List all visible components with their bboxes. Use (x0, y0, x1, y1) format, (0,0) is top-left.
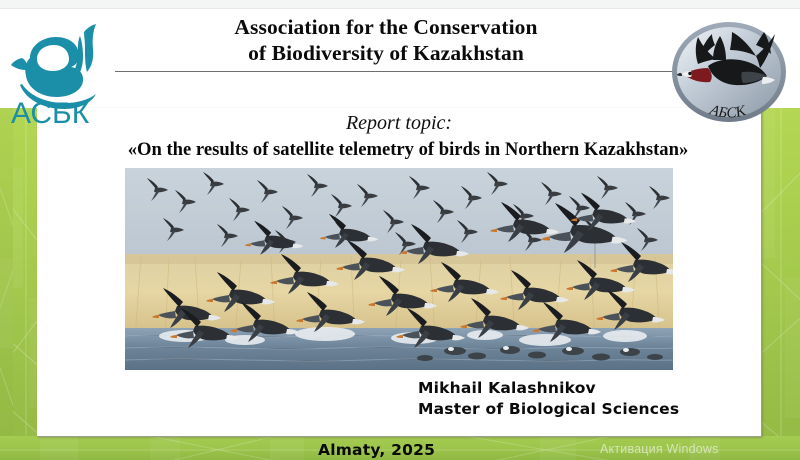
geometric-pattern-icon (0, 108, 14, 460)
org-title-line-2: of Biodiversity of Kazakhstan (118, 40, 654, 66)
acbk-duck-logo: АСБК (8, 18, 120, 126)
geometric-pattern-icon (13, 108, 39, 460)
author-name: Mikhail Kalashnikov (418, 378, 679, 399)
acbk-logo-icon: АСБК (8, 18, 120, 126)
author-block: Mikhail Kalashnikov Master of Biological… (418, 378, 679, 420)
photo-illustration (125, 168, 673, 370)
presentation-slide: АСБК Association for the Conservation of… (0, 0, 800, 460)
green-band-left (13, 108, 39, 460)
green-band-far-left (0, 108, 14, 460)
report-topic-label: Report topic: (37, 112, 761, 135)
flock-of-geese-taking-off-photo (125, 168, 673, 370)
page-title: Association for the Conservation of Biod… (118, 14, 654, 66)
author-degree: Master of Biological Sciences (418, 399, 679, 420)
report-title: «On the results of satellite telemetry o… (38, 139, 778, 161)
slide-header: АСБК Association for the Conservation of… (0, 8, 800, 108)
city-year-label: Almaty, 2025 (318, 441, 435, 459)
org-title-line-1: Association for the Conservation (118, 14, 654, 40)
